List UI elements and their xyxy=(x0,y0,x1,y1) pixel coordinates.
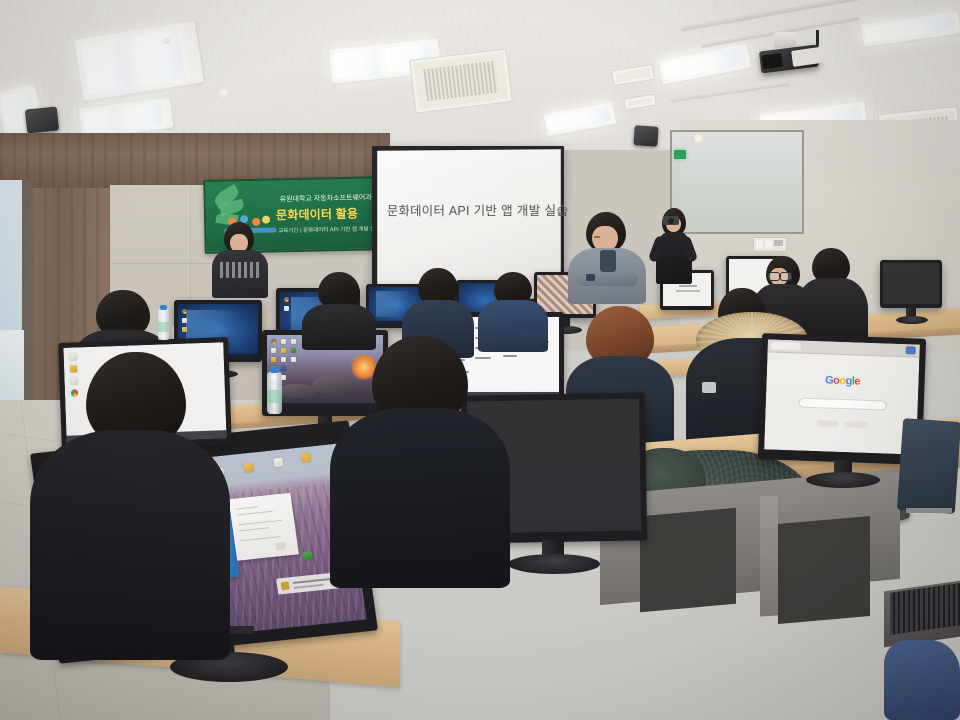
smoke-detector-icon xyxy=(163,38,170,44)
google-logo: Google xyxy=(825,374,860,387)
glasses-icon xyxy=(780,272,792,281)
classroom-photo: 유원대학교 자동차소프트웨어과 문화데이터 활용 교육기간 | 문화데이터 AP… xyxy=(0,0,960,720)
wall-speaker xyxy=(633,125,658,147)
slide-title: 문화데이터 API 기반 앱 개발 실습 xyxy=(387,200,555,219)
water-bottle[interactable] xyxy=(267,372,282,414)
student-shirt xyxy=(330,408,510,588)
glass-partition xyxy=(670,130,804,234)
exit-sign-icon xyxy=(674,150,686,159)
wall-light-switches xyxy=(753,237,787,252)
water-bottle[interactable] xyxy=(158,309,169,340)
chair-back-right[interactable] xyxy=(897,418,960,514)
chair-leg xyxy=(906,508,952,513)
desk-cabinet-opening xyxy=(778,516,870,624)
banner-line2: 문화데이터 활용 xyxy=(276,205,359,224)
person-seated-jeans xyxy=(884,640,960,720)
desk-divider xyxy=(760,495,778,616)
white-dialog-panel xyxy=(229,493,299,561)
glasses-icon xyxy=(768,272,780,281)
banner-line1: 유원대학교 자동차소프트웨어과 xyxy=(280,192,372,204)
smoke-detector-icon xyxy=(218,89,231,98)
coat-logo xyxy=(702,382,716,393)
instructor-shirt-collar xyxy=(600,250,616,272)
google-search-bar[interactable] xyxy=(799,398,886,411)
desk-cabinet-opening xyxy=(640,508,736,612)
student-shirt xyxy=(30,430,230,660)
wall-speaker xyxy=(25,106,59,133)
window-lower-pane xyxy=(0,330,24,400)
banner-line3: 교육기간 | 문화데이터 API 기반 앱 개발 실습 xyxy=(278,224,380,234)
wristwatch xyxy=(586,274,595,281)
camera-lens-icon xyxy=(668,218,674,224)
ceiling-lamp-through-glass xyxy=(694,134,703,143)
